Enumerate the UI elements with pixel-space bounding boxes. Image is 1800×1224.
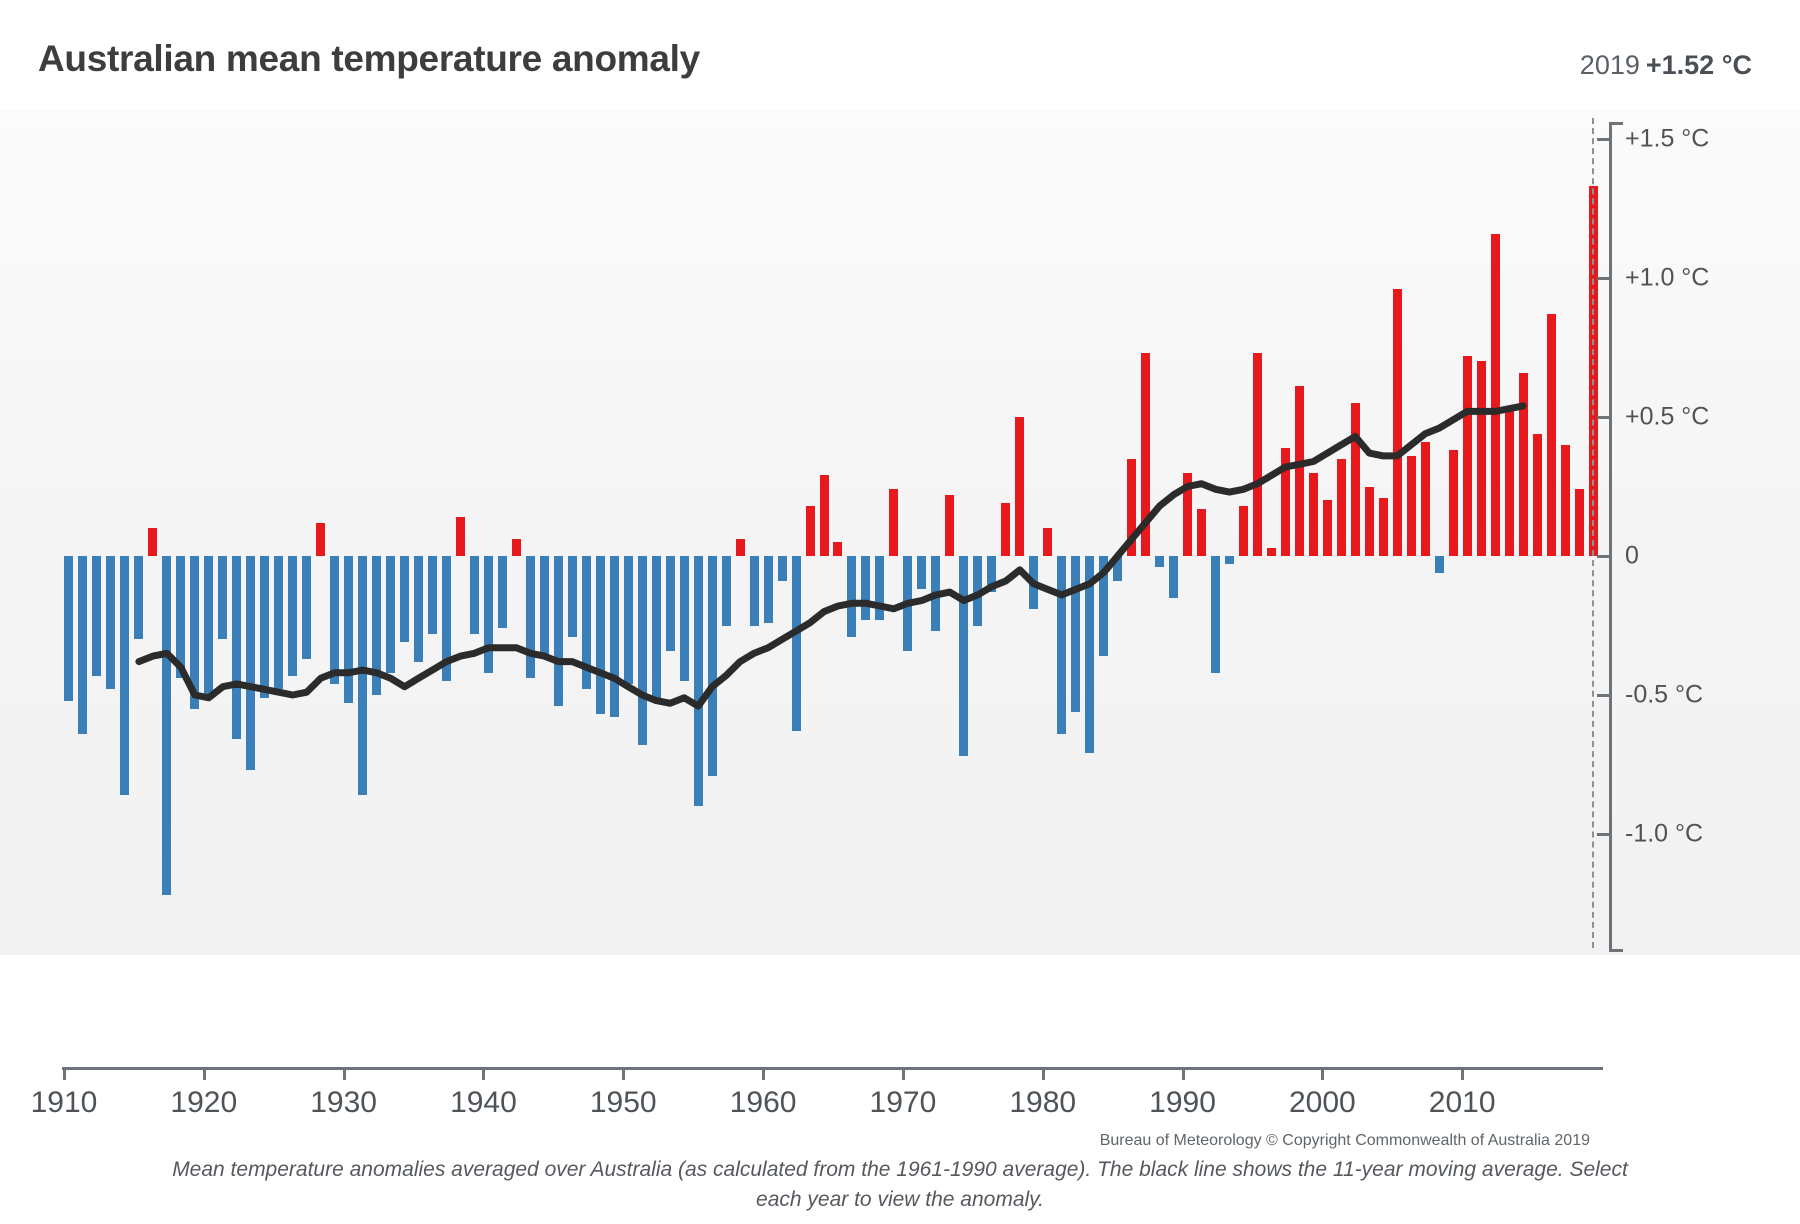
bar-1928[interactable] — [316, 523, 325, 556]
bar-1954[interactable] — [680, 556, 689, 681]
bar-1972[interactable] — [931, 556, 940, 631]
bar-1930[interactable] — [344, 556, 353, 703]
x-label-1970: 1970 — [870, 1086, 937, 1120]
y-axis-cap-top — [1609, 122, 1623, 125]
bar-1917[interactable] — [162, 556, 171, 895]
bar-1992[interactable] — [1211, 556, 1220, 673]
bar-1975[interactable] — [973, 556, 982, 626]
bar-1990[interactable] — [1183, 473, 1192, 556]
bar-1986[interactable] — [1127, 459, 1136, 556]
bar-1935[interactable] — [414, 556, 423, 662]
bar-1936[interactable] — [428, 556, 437, 634]
bar-2001[interactable] — [1337, 459, 1346, 556]
bars-container[interactable] — [62, 110, 1600, 955]
x-axis-line — [62, 1067, 1603, 1070]
bar-1944[interactable] — [540, 556, 549, 656]
bar-1918[interactable] — [176, 556, 185, 678]
chart-caption: Mean temperature anomalies averaged over… — [0, 1155, 1800, 1216]
bar-1941[interactable] — [498, 556, 507, 628]
bar-1962[interactable] — [792, 556, 801, 731]
bar-1995[interactable] — [1253, 353, 1262, 556]
latest-anomaly-value: +1.52 °C — [1646, 50, 1752, 80]
latest-year-label: 2019 — [1580, 50, 1640, 80]
bar-1959[interactable] — [750, 556, 759, 626]
x-label-1920: 1920 — [170, 1086, 237, 1120]
bar-2000[interactable] — [1323, 500, 1332, 556]
y-axis-line — [1609, 122, 1612, 952]
bar-1913[interactable] — [106, 556, 115, 689]
bar-1987[interactable] — [1141, 353, 1150, 556]
x-tick-2010 — [1461, 1067, 1464, 1080]
y-tick-1 — [1597, 277, 1611, 280]
bar-1940[interactable] — [484, 556, 493, 673]
y-label-0: 0 — [1625, 542, 1639, 571]
bar-2015[interactable] — [1533, 434, 1542, 556]
bar-2008[interactable] — [1435, 556, 1444, 573]
bar-1979[interactable] — [1029, 556, 1038, 609]
bar-1967[interactable] — [861, 556, 870, 620]
latest-value-readout: 2019+1.52 °C — [1580, 50, 1752, 81]
plot-panel: +1.5 °C+1.0 °C+0.5 °C0-0.5 °C-1.0 °C 191… — [0, 110, 1800, 955]
x-tick-1910 — [63, 1067, 66, 1080]
y-label-1: +1.0 °C — [1625, 264, 1709, 293]
bar-1943[interactable] — [526, 556, 535, 678]
bar-1946[interactable] — [568, 556, 577, 637]
bar-1977[interactable] — [1001, 503, 1010, 556]
x-label-2010: 2010 — [1429, 1086, 1496, 1120]
bar-1926[interactable] — [288, 556, 297, 676]
bar-1920[interactable] — [204, 556, 213, 698]
chart-root: Australian mean temperature anomaly 2019… — [0, 0, 1800, 1224]
bar-2014[interactable] — [1519, 373, 1528, 556]
bar-2017[interactable] — [1561, 445, 1570, 556]
bar-1950[interactable] — [624, 556, 633, 684]
bar-1982[interactable] — [1071, 556, 1080, 712]
bar-1951[interactable] — [638, 556, 647, 745]
bar-1973[interactable] — [945, 495, 954, 556]
bar-2016[interactable] — [1547, 314, 1556, 556]
bar-1953[interactable] — [666, 556, 675, 651]
bar-1931[interactable] — [358, 556, 367, 795]
bar-1956[interactable] — [708, 556, 717, 776]
bar-1994[interactable] — [1239, 506, 1248, 556]
bar-1924[interactable] — [260, 556, 269, 698]
bar-1912[interactable] — [92, 556, 101, 676]
bar-2009[interactable] — [1449, 450, 1458, 556]
bar-1976[interactable] — [987, 556, 996, 592]
y-label-0_5: +0.5 °C — [1625, 403, 1709, 432]
bar-1921[interactable] — [218, 556, 227, 639]
bar-1938[interactable] — [456, 517, 465, 556]
page-title: Australian mean temperature anomaly — [38, 38, 700, 80]
bar-2006[interactable] — [1407, 456, 1416, 556]
bar-1947[interactable] — [582, 556, 591, 689]
bar-1911[interactable] — [78, 556, 87, 734]
bar-1932[interactable] — [372, 556, 381, 695]
bar-1974[interactable] — [959, 556, 968, 756]
bar-2002[interactable] — [1351, 403, 1360, 556]
bar-1969[interactable] — [889, 489, 898, 556]
bar-2011[interactable] — [1477, 361, 1486, 556]
bar-1952[interactable] — [652, 556, 661, 698]
bar-1980[interactable] — [1043, 528, 1052, 556]
bar-1923[interactable] — [246, 556, 255, 770]
bar-1939[interactable] — [470, 556, 479, 634]
bar-2012[interactable] — [1491, 234, 1500, 556]
bar-1961[interactable] — [778, 556, 787, 581]
bar-1942[interactable] — [512, 539, 521, 556]
bar-2018[interactable] — [1575, 489, 1584, 556]
copyright-notice: Bureau of Meteorology © Copyright Common… — [1100, 1132, 1590, 1150]
bar-1963[interactable] — [806, 506, 815, 556]
bar-2007[interactable] — [1421, 442, 1430, 556]
bar-1970[interactable] — [903, 556, 912, 651]
y-axis-cap-bottom — [1609, 949, 1623, 952]
bar-1981[interactable] — [1057, 556, 1066, 734]
bar-1934[interactable] — [400, 556, 409, 642]
bar-2003[interactable] — [1365, 487, 1374, 557]
x-tick-1970 — [902, 1067, 905, 1080]
bar-2004[interactable] — [1379, 498, 1388, 556]
x-label-2000: 2000 — [1289, 1086, 1356, 1120]
bar-2010[interactable] — [1463, 356, 1472, 556]
bar-2013[interactable] — [1505, 411, 1514, 556]
x-label-1950: 1950 — [590, 1086, 657, 1120]
bar-1925[interactable] — [274, 556, 283, 689]
bar-1989[interactable] — [1169, 556, 1178, 598]
y-tick--0_5 — [1597, 694, 1611, 697]
bar-1955[interactable] — [694, 556, 703, 806]
bar-1997[interactable] — [1281, 448, 1290, 556]
bar-1945[interactable] — [554, 556, 563, 706]
bar-1971[interactable] — [917, 556, 926, 589]
x-tick-1940 — [482, 1067, 485, 1080]
bar-1978[interactable] — [1015, 417, 1024, 556]
bar-1968[interactable] — [875, 556, 884, 620]
bar-1910[interactable] — [64, 556, 73, 701]
bar-1958[interactable] — [736, 539, 745, 556]
bar-1915[interactable] — [134, 556, 143, 639]
bar-1964[interactable] — [820, 475, 829, 556]
bar-1922[interactable] — [232, 556, 241, 739]
bar-1914[interactable] — [120, 556, 129, 795]
x-label-1990: 1990 — [1149, 1086, 1216, 1120]
bar-1927[interactable] — [302, 556, 311, 659]
x-tick-1980 — [1042, 1067, 1045, 1080]
y-label-1_5: +1.5 °C — [1625, 125, 1709, 154]
x-label-1960: 1960 — [730, 1086, 797, 1120]
bar-1937[interactable] — [442, 556, 451, 681]
bar-1966[interactable] — [847, 556, 856, 637]
bar-1929[interactable] — [330, 556, 339, 684]
x-label-1980: 1980 — [1009, 1086, 1076, 1120]
x-tick-2000 — [1321, 1067, 1324, 1080]
y-tick--1 — [1597, 833, 1611, 836]
bar-1996[interactable] — [1267, 548, 1276, 556]
y-label--0_5: -0.5 °C — [1625, 681, 1703, 710]
bar-1984[interactable] — [1099, 556, 1108, 656]
bar-1916[interactable] — [148, 528, 157, 556]
x-tick-1990 — [1182, 1067, 1185, 1080]
bar-1985[interactable] — [1113, 556, 1122, 581]
bar-1983[interactable] — [1085, 556, 1094, 753]
x-tick-1920 — [203, 1067, 206, 1080]
bar-1919[interactable] — [190, 556, 199, 709]
x-label-1940: 1940 — [450, 1086, 517, 1120]
bar-1948[interactable] — [596, 556, 605, 714]
bar-1965[interactable] — [833, 542, 842, 556]
bar-1998[interactable] — [1295, 386, 1304, 556]
x-tick-1960 — [762, 1067, 765, 1080]
x-label-1910: 1910 — [31, 1086, 98, 1120]
x-label-1930: 1930 — [310, 1086, 377, 1120]
bar-1957[interactable] — [722, 556, 731, 626]
y-tick-0_5 — [1597, 416, 1611, 419]
bar-1960[interactable] — [764, 556, 773, 623]
bar-1991[interactable] — [1197, 509, 1206, 556]
x-tick-1930 — [343, 1067, 346, 1080]
bar-1933[interactable] — [386, 556, 395, 673]
bar-2005[interactable] — [1393, 289, 1402, 556]
y-tick-0 — [1597, 555, 1611, 558]
bar-1999[interactable] — [1309, 473, 1318, 556]
y-tick-1_5 — [1597, 138, 1611, 141]
latest-year-marker-line — [1592, 118, 1594, 948]
y-label--1: -1.0 °C — [1625, 820, 1703, 849]
bar-1949[interactable] — [610, 556, 619, 717]
x-tick-1950 — [622, 1067, 625, 1080]
